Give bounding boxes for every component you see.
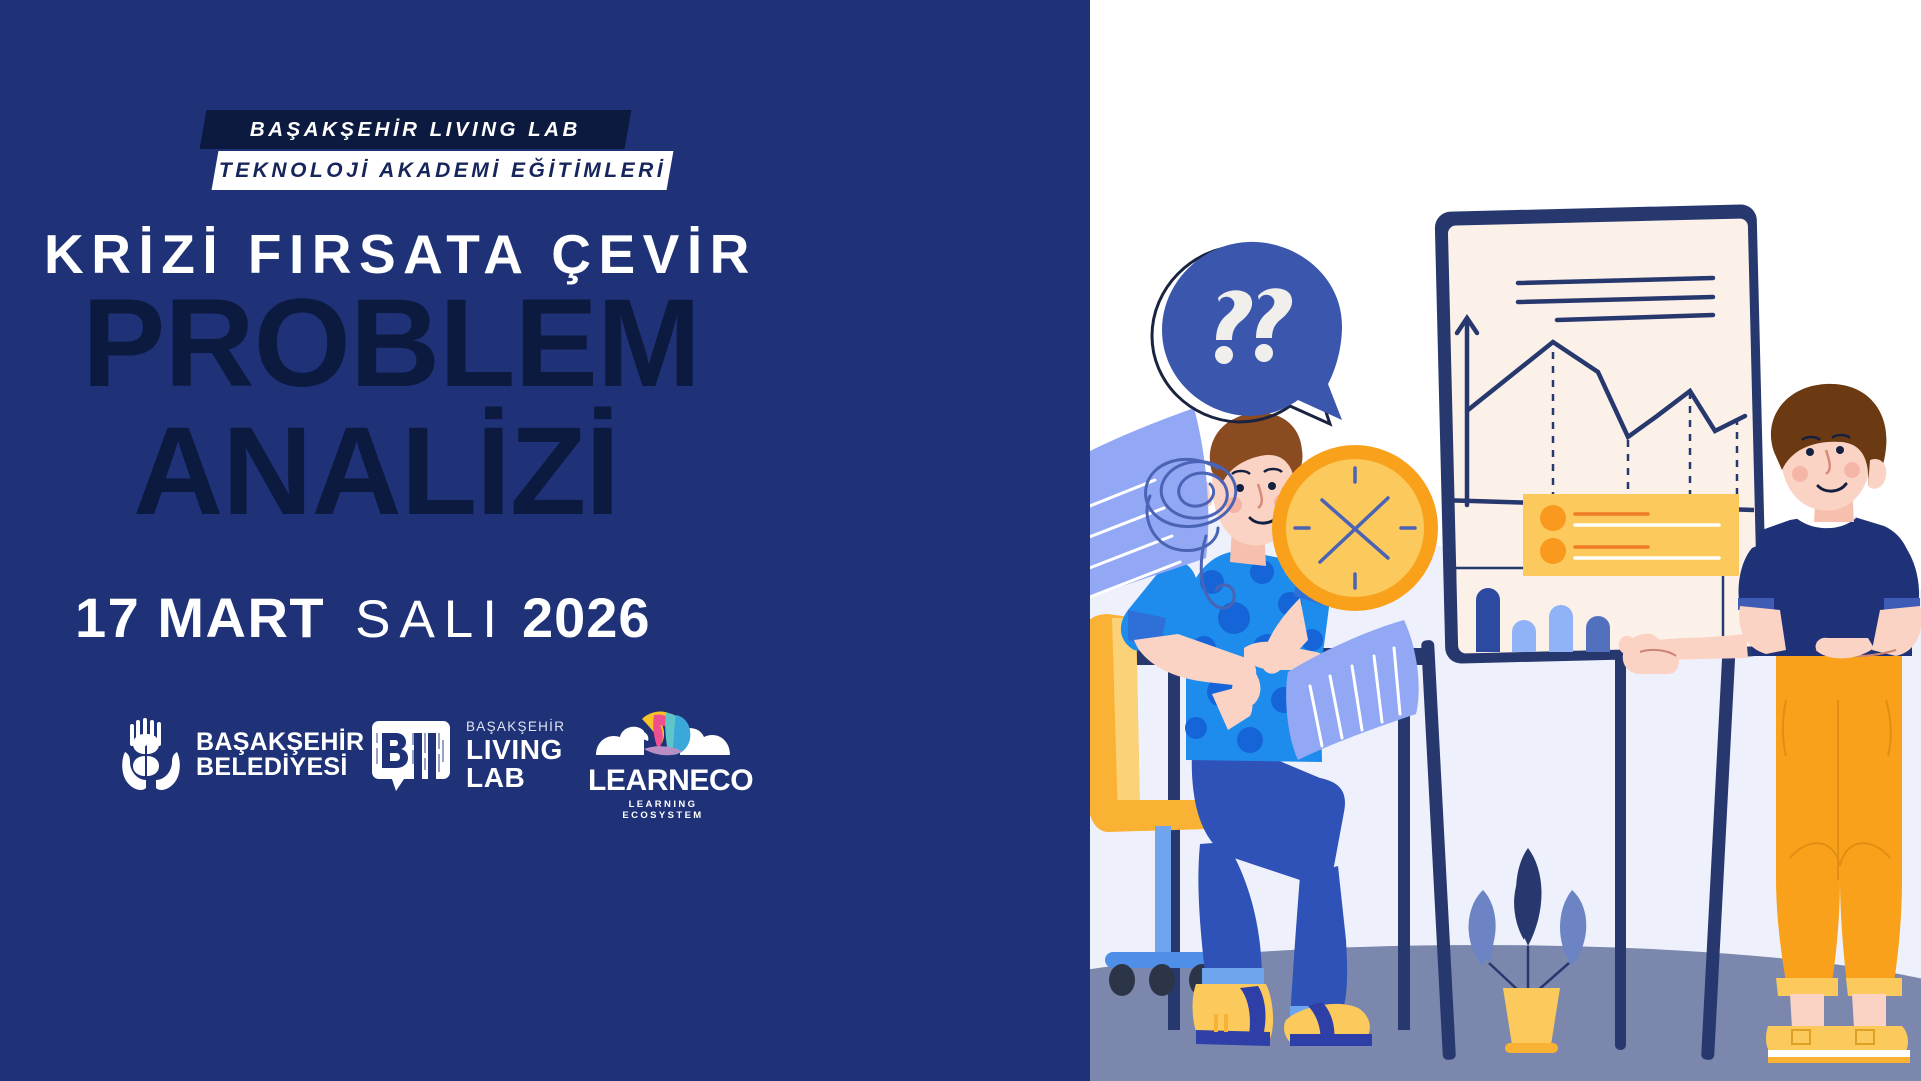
bird-clouds-icon bbox=[588, 705, 738, 765]
hair bbox=[1210, 413, 1303, 484]
logo-learneco: LEARNECO LEARNING ECOSYSTEM bbox=[588, 705, 738, 821]
board-text-lines bbox=[1518, 278, 1713, 320]
flipchart-board bbox=[1435, 204, 1768, 664]
question-speech-bubble bbox=[1152, 242, 1342, 424]
standing-woman bbox=[1619, 384, 1921, 1063]
headline-title-line1: PROBLEM bbox=[82, 281, 700, 406]
event-date-day: 17 MART bbox=[75, 585, 325, 650]
left-content-panel: BAŞAKŞEHİR LIVING LAB TEKNOLOJİ AKADEMİ … bbox=[0, 0, 1090, 1081]
poster-root: BAŞAKŞEHİR LIVING LAB TEKNOLOJİ AKADEMİ … bbox=[0, 0, 1921, 1081]
event-date-year: 2026 bbox=[522, 585, 651, 650]
speech-bubble-bll-icon bbox=[368, 720, 454, 792]
wheat-in-hands-icon bbox=[120, 718, 182, 792]
question-marks bbox=[1215, 288, 1292, 364]
event-date-weekday: SALI bbox=[355, 589, 506, 650]
logo-basaksehir-belediyesi: BAŞAKŞEHİR BELEDİYESİ bbox=[120, 718, 364, 792]
chart-gridlines bbox=[1553, 352, 1737, 508]
logo-living-lab-line2: LIVING bbox=[466, 736, 565, 764]
banner-living-lab-text: BAŞAKŞEHİR LIVING LAB bbox=[250, 118, 581, 142]
logo-living-lab-text: BAŞAKŞEHİR LIVING LAB bbox=[466, 720, 565, 792]
logo-living-lab-line1: BAŞAKŞEHİR bbox=[466, 720, 565, 734]
banner-academy-text: TEKNOLOJİ AKADEMİ EĞİTİMLERİ bbox=[219, 159, 666, 183]
background-blob bbox=[1088, 507, 1580, 1081]
logo-basaksehir-text: BAŞAKŞEHİR BELEDİYESİ bbox=[196, 730, 364, 781]
shirt-dots bbox=[1185, 560, 1323, 753]
event-date: 17 MART SALI 2026 bbox=[75, 585, 651, 650]
easel-legs bbox=[1421, 640, 1736, 1060]
logo-learneco-word: LEARNECO bbox=[588, 766, 738, 796]
logo-living-lab-line3: LAB bbox=[466, 764, 565, 792]
banner-living-lab: BAŞAKŞEHİR LIVING LAB bbox=[200, 110, 632, 149]
yellow-note-card bbox=[1523, 494, 1739, 576]
headline-title-line2: ANALİZİ bbox=[133, 409, 619, 534]
logo-row: BAŞAKŞEHİR BELEDİYESİ bbox=[0, 700, 1000, 830]
seated-man bbox=[1121, 413, 1372, 1046]
banner-academy: TEKNOLOJİ AKADEMİ EĞİTİMLERİ bbox=[212, 151, 674, 190]
logo-basaksehir-line1: BAŞAKŞEHİR bbox=[196, 730, 364, 756]
logo-living-lab: BAŞAKŞEHİR LIVING LAB bbox=[368, 720, 565, 792]
board-contents bbox=[1442, 278, 1755, 727]
hair bbox=[1771, 384, 1887, 486]
line-chart bbox=[1442, 318, 1755, 510]
bar-chart bbox=[1460, 588, 1675, 727]
logo-learneco-sub: LEARNING ECOSYSTEM bbox=[588, 799, 738, 821]
wall-clock bbox=[1272, 445, 1438, 611]
flying-paper-bottom bbox=[1286, 620, 1419, 760]
scribble-tangle bbox=[1146, 459, 1236, 608]
bar-chart-panel bbox=[1455, 568, 1723, 690]
floor-ellipse bbox=[950, 945, 1921, 1081]
potted-plant bbox=[1469, 848, 1587, 1053]
logo-basaksehir-line2: BELEDİYESİ bbox=[196, 755, 364, 781]
office-chair bbox=[1078, 614, 1244, 996]
